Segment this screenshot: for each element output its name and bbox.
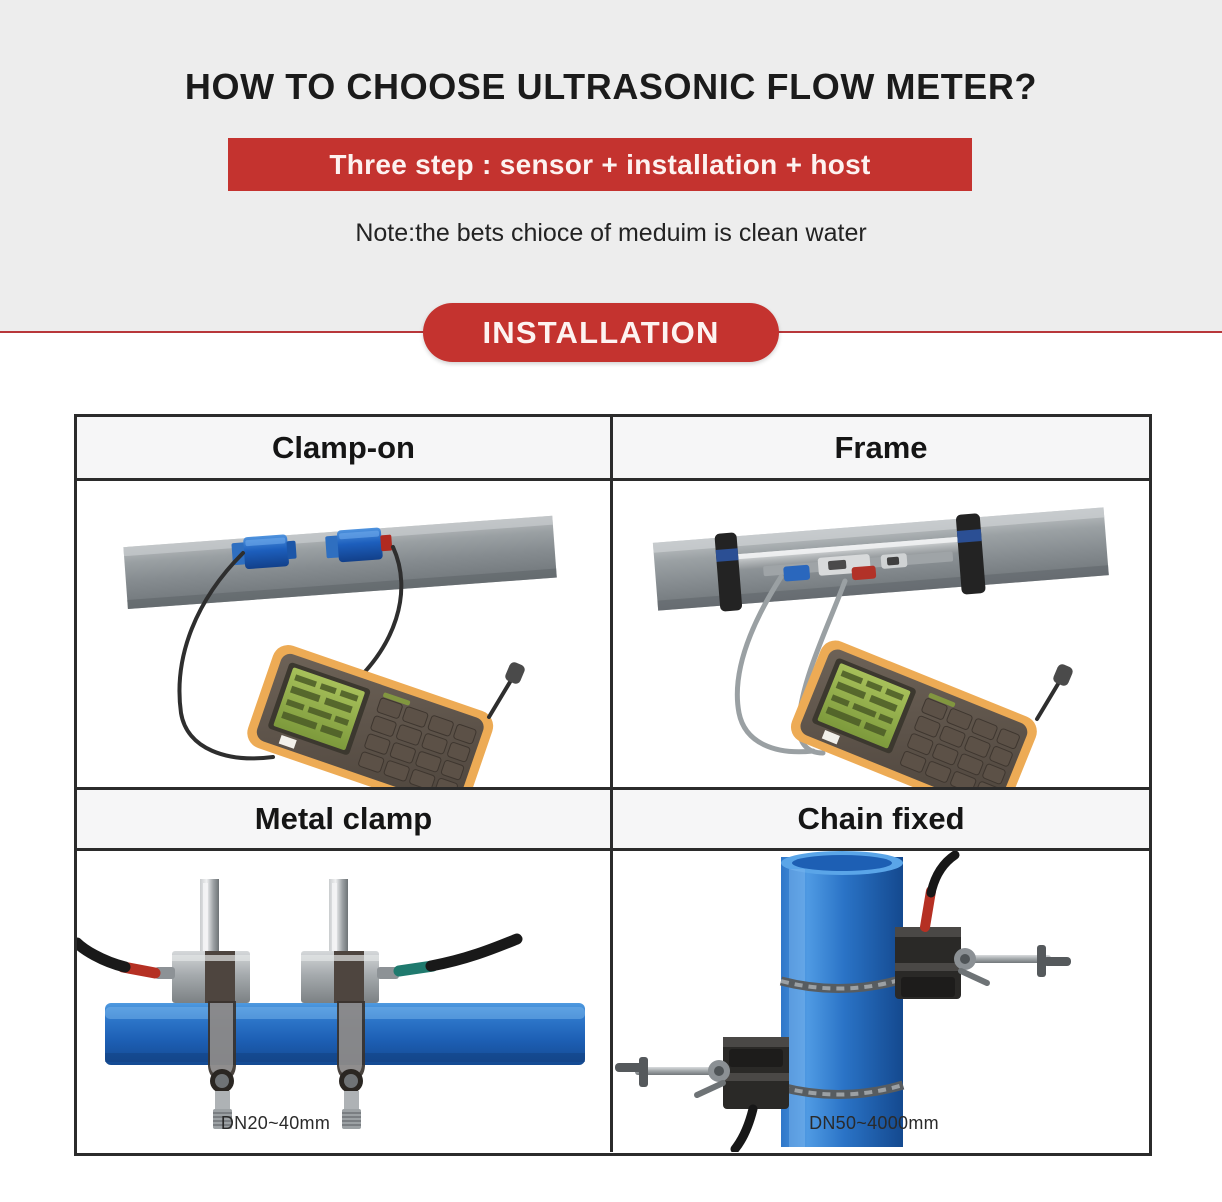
- step-banner-label: Three step : sensor + installation + hos…: [329, 149, 870, 181]
- frame-photo: [613, 481, 1149, 787]
- table-header-label: Clamp-on: [272, 430, 415, 466]
- clamp-on-photo: [77, 481, 613, 787]
- page-title: HOW TO CHOOSE ULTRASONIC FLOW METER?: [0, 66, 1222, 108]
- section-badge-label: INSTALLATION: [482, 315, 719, 351]
- table-header-cell-chain-fixed: Chain fixed: [613, 787, 1149, 851]
- table-photo-row-2: DN20~40mm: [77, 851, 1149, 1152]
- table-header-label: Metal clamp: [255, 801, 432, 837]
- table-header-row-1: Clamp-on Frame: [77, 417, 1149, 481]
- section-badge-installation: INSTALLATION: [423, 303, 779, 362]
- table-header-label: Frame: [834, 430, 927, 466]
- table-header-cell-metal-clamp: Metal clamp: [77, 787, 613, 851]
- chain-fixed-photo: [613, 851, 1149, 1152]
- table-cell-frame-photo: [613, 481, 1149, 787]
- table-header-cell-frame: Frame: [613, 417, 1149, 481]
- table-cell-clamp-on-photo: [77, 481, 613, 787]
- table-cell-metal-clamp-photo: DN20~40mm: [77, 851, 613, 1152]
- table-cell-chain-fixed-photo: DN50~4000mm: [613, 851, 1149, 1152]
- table-header-cell-clamp-on: Clamp-on: [77, 417, 613, 481]
- note-text: Note:the bets chioce of meduim is clean …: [0, 219, 1222, 248]
- table-header-row-2: Metal clamp Chain fixed: [77, 787, 1149, 851]
- table-photo-row-1: [77, 481, 1149, 787]
- cell-caption: DN20~40mm: [77, 1113, 542, 1134]
- cell-caption: DN50~4000mm: [613, 1113, 1142, 1134]
- table-header-label: Chain fixed: [797, 801, 964, 837]
- installation-methods-table: Clamp-on Frame: [74, 414, 1152, 1156]
- step-banner: Three step : sensor + installation + hos…: [228, 138, 972, 191]
- metal-clamp-photo: [77, 851, 613, 1152]
